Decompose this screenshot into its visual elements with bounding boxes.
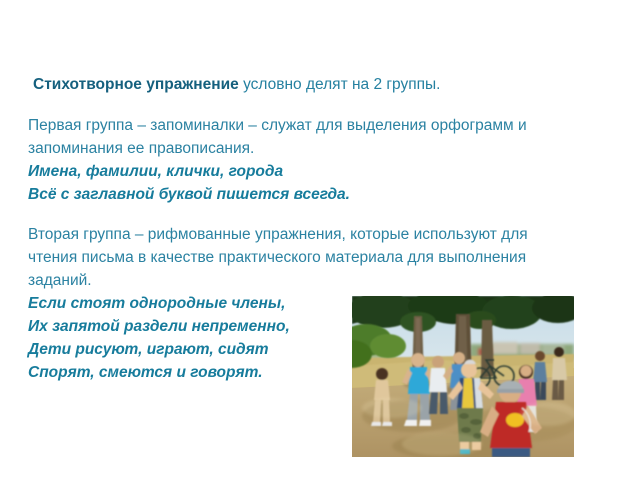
group-two-body-line-1: Вторая группа – рифмованные упражнения, …	[28, 223, 624, 246]
slide-canvas: Стихотворное упражнение условно делят на…	[0, 0, 640, 480]
spacer-after-title	[28, 96, 624, 114]
page-title: Стихотворное упражнение условно делят на…	[28, 74, 624, 96]
group-one-body-line-2: запоминания ее правописания.	[28, 137, 624, 160]
page-title-bold: Стихотворное упражнение	[33, 76, 239, 93]
children-playing-photo	[352, 296, 574, 457]
page-title-rest: условно делят на 2 группы.	[239, 76, 441, 93]
group-two-body-line-2: чтения письма в качестве практического м…	[28, 246, 624, 269]
group-two-body-line-3: заданий.	[28, 269, 624, 292]
group-one-verse-line-2: Всё с заглавной буквой пишется всегда.	[28, 183, 624, 206]
group-one-verse-line-1: Имена, фамилии, клички, города	[28, 160, 624, 183]
group-one-body-line-1: Первая группа – запоминалки – служат для…	[28, 114, 624, 137]
spacer-between-groups	[28, 206, 624, 223]
